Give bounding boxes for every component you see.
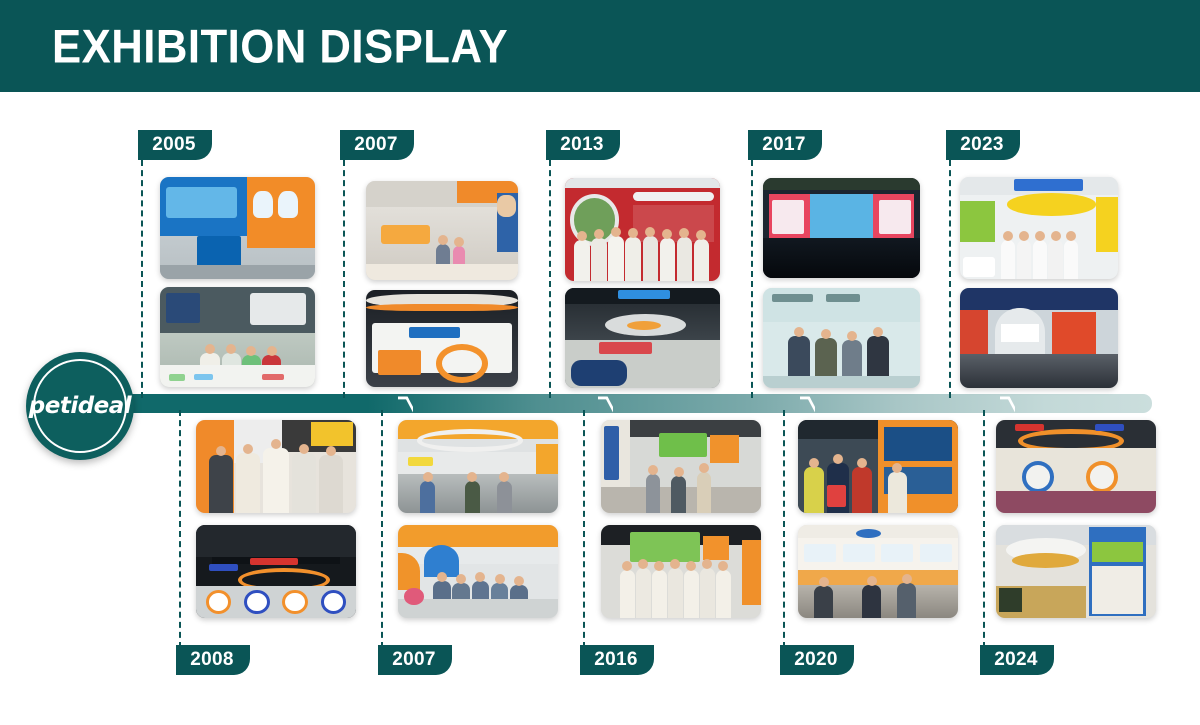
- exhibition-photo: [196, 420, 356, 513]
- logo-text: petideal: [29, 393, 131, 419]
- year-tag-2005[interactable]: 2005: [138, 130, 212, 160]
- exhibition-photo: [601, 420, 761, 513]
- connector-line: [983, 410, 985, 648]
- exhibition-photo: [366, 181, 518, 280]
- year-tag-2008[interactable]: 2008: [176, 645, 250, 675]
- exhibition-photo: [196, 525, 356, 618]
- year-tag-2013[interactable]: 2013: [546, 130, 620, 160]
- year-tag-2016[interactable]: 2016: [580, 645, 654, 675]
- exhibition-photo: [366, 290, 518, 387]
- exhibition-photo: [565, 288, 720, 388]
- exhibition-photo: [996, 420, 1156, 513]
- connector-line: [549, 160, 551, 398]
- exhibition-photo: [160, 287, 315, 387]
- exhibition-photo: [601, 525, 761, 618]
- connector-line: [343, 160, 345, 398]
- chevron-right-icon: [1000, 394, 1015, 413]
- exhibition-photo: [996, 525, 1156, 618]
- exhibition-photo: [398, 525, 558, 618]
- year-tag-2007-top[interactable]: 2007: [340, 130, 414, 160]
- exhibition-photo: [798, 525, 958, 618]
- connector-line: [783, 410, 785, 648]
- timeline-bar: [92, 394, 1152, 413]
- year-tag-2007-bottom[interactable]: 2007: [378, 645, 452, 675]
- connector-line: [381, 410, 383, 648]
- exhibition-photo: [398, 420, 558, 513]
- connector-line: [179, 410, 181, 648]
- page-title: EXHIBITION DISPLAY: [52, 19, 508, 74]
- year-tag-2020[interactable]: 2020: [780, 645, 854, 675]
- connector-line: [751, 160, 753, 398]
- exhibition-photo: [798, 420, 958, 513]
- connector-line: [949, 160, 951, 398]
- year-tag-2023[interactable]: 2023: [946, 130, 1020, 160]
- header-banner: EXHIBITION DISPLAY: [0, 0, 1200, 92]
- exhibition-photo: [960, 177, 1118, 279]
- chevron-right-icon: [598, 394, 613, 413]
- year-tag-2017[interactable]: 2017: [748, 130, 822, 160]
- connector-line: [141, 160, 143, 398]
- chevron-right-icon: [800, 394, 815, 413]
- exhibition-photo: [160, 177, 315, 279]
- year-tag-2024[interactable]: 2024: [980, 645, 1054, 675]
- exhibition-photo: [960, 288, 1118, 388]
- exhibition-photo: [763, 288, 920, 388]
- petideal-logo: petideal: [26, 352, 134, 460]
- chevron-right-icon: [398, 394, 413, 413]
- connector-line: [583, 410, 585, 648]
- exhibition-display-infographic: EXHIBITION DISPLAY petideal 2005: [0, 0, 1200, 725]
- exhibition-photo: [565, 178, 720, 281]
- exhibition-photo: [763, 178, 920, 278]
